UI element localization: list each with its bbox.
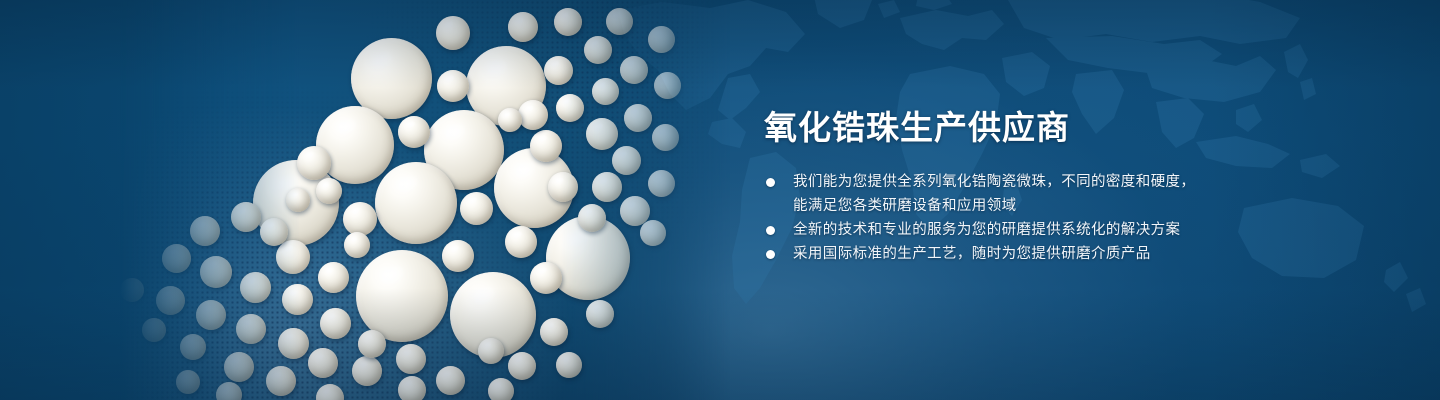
bullet-dot-icon [766, 226, 775, 235]
zirconia-beads-photo [0, 0, 730, 400]
bead [162, 244, 191, 273]
bead [278, 328, 309, 359]
bead [297, 146, 331, 180]
banner-bullet-list: 我们能为您提供全系列氧化锆陶瓷微珠，不同的密度和硬度， 能满足您各类研磨设备和应… [764, 170, 1324, 266]
bead [654, 72, 681, 99]
bead [606, 8, 633, 35]
bullet-line-1: 采用国际标准的生产工艺，随时为您提供研磨介质产品 [793, 246, 1151, 262]
bead [282, 284, 313, 315]
bead [620, 56, 648, 84]
bead [398, 116, 430, 148]
bead [318, 262, 349, 293]
bead [640, 220, 666, 246]
banner-bullet-item: 采用国际标准的生产工艺，随时为您提供研磨介质产品 [764, 242, 1324, 266]
bead [556, 352, 582, 378]
bead [488, 378, 514, 400]
bead [586, 300, 614, 328]
bead [508, 12, 538, 42]
bead [518, 100, 548, 130]
bead [554, 8, 582, 36]
bullet-dot-icon [766, 250, 775, 259]
bead [540, 318, 568, 346]
bead [436, 366, 465, 395]
bead [530, 130, 562, 162]
bead [398, 376, 426, 400]
bead [548, 172, 578, 202]
bead [308, 348, 338, 378]
hero-banner: 氧化锆珠生产供应商 我们能为您提供全系列氧化锆陶瓷微珠，不同的密度和硬度， 能满… [0, 0, 1440, 400]
bead [375, 162, 457, 244]
bead [612, 146, 641, 175]
bead [358, 330, 386, 358]
bullet-line-1: 我们能为您提供全系列氧化锆陶瓷微珠，不同的密度和硬度， [793, 174, 1195, 190]
banner-bullet-item: 全新的技术和专业的服务为您的研磨提供系统化的解决方案 [764, 218, 1324, 242]
bead [176, 370, 200, 394]
banner-headline: 氧化锆珠生产供应商 [764, 108, 1324, 148]
bead [592, 172, 622, 202]
bead [505, 226, 537, 258]
bead [190, 216, 220, 246]
bead [231, 202, 261, 232]
banner-bullet-item: 我们能为您提供全系列氧化锆陶瓷微珠，不同的密度和硬度， 能满足您各类研磨设备和应… [764, 170, 1324, 218]
bead [343, 202, 377, 236]
bead [240, 272, 271, 303]
bead [436, 16, 470, 50]
bead [437, 70, 469, 102]
bead [478, 338, 504, 364]
bead [544, 56, 573, 85]
banner-content: 氧化锆珠生产供应商 我们能为您提供全系列氧化锆陶瓷微珠，不同的密度和硬度， 能满… [764, 108, 1324, 266]
bead [508, 352, 536, 380]
bead [156, 286, 185, 315]
bead [648, 170, 675, 197]
bullet-dot-icon [766, 178, 775, 187]
bead [344, 232, 370, 258]
bead [320, 308, 351, 339]
bead [652, 124, 679, 151]
bead [442, 240, 474, 272]
bead [224, 352, 254, 382]
bead [142, 318, 166, 342]
bead [592, 78, 619, 105]
bead [286, 188, 310, 212]
bead [624, 104, 652, 132]
bead [352, 356, 382, 386]
bead [356, 250, 448, 342]
bead [584, 36, 612, 64]
bead [396, 344, 426, 374]
bead [578, 204, 606, 232]
bullet-line-2: 能满足您各类研磨设备和应用领域 [793, 194, 1324, 218]
bead [586, 118, 618, 150]
bead [266, 366, 296, 396]
bullet-line-1: 全新的技术和专业的服务为您的研磨提供系统化的解决方案 [793, 222, 1180, 238]
bead [276, 240, 310, 274]
bead [200, 256, 232, 288]
bead [556, 94, 584, 122]
bead [180, 334, 206, 360]
bead [196, 300, 226, 330]
bead [498, 108, 522, 132]
bead [648, 26, 675, 53]
bead [530, 262, 562, 294]
bead [460, 192, 493, 225]
bead [316, 178, 342, 204]
bead [260, 218, 288, 246]
bead [120, 278, 144, 302]
bead [236, 314, 266, 344]
